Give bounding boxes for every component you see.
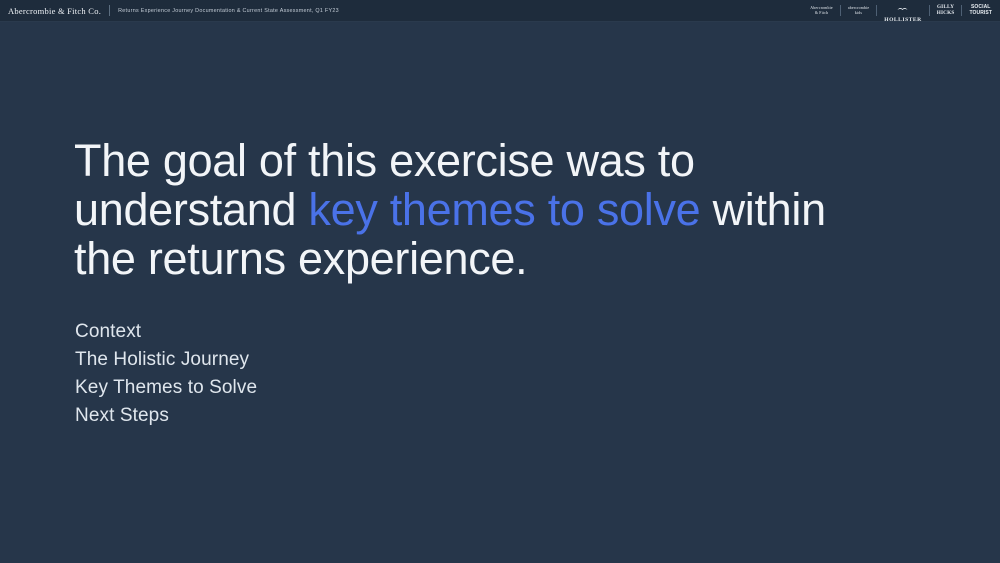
headline-accent-phrase: key themes to solve bbox=[308, 184, 700, 235]
header-divider bbox=[109, 5, 110, 16]
logo-separator bbox=[840, 5, 841, 16]
agenda-item-key-themes-to-solve[interactable]: Key Themes to Solve bbox=[75, 374, 257, 402]
agenda-list: Context The Holistic Journey Key Themes … bbox=[75, 318, 257, 430]
slide-headline: The goal of this exercise was to underst… bbox=[74, 136, 834, 283]
brand-logo-line-2: HICKS bbox=[937, 11, 955, 17]
brand-logo-gilly-hicks: GILLY HICKS bbox=[937, 5, 955, 17]
brand-logo-abercrombie-kids: abercrombie kids bbox=[848, 6, 869, 15]
brand-logo-strip: Abercrombie & Fitch abercrombie kids HOL… bbox=[810, 0, 1000, 22]
agenda-item-context[interactable]: Context bbox=[75, 318, 257, 346]
agenda-item-the-holistic-journey[interactable]: The Holistic Journey bbox=[75, 346, 257, 374]
deck-subtitle: Returns Experience Journey Documentation… bbox=[118, 8, 339, 14]
logo-separator bbox=[929, 5, 930, 16]
header-left-group: Abercrombie & Fitch Co. Returns Experien… bbox=[0, 0, 339, 22]
slide-header-bar: Abercrombie & Fitch Co. Returns Experien… bbox=[0, 0, 1000, 22]
agenda-item-next-steps[interactable]: Next Steps bbox=[75, 402, 257, 430]
brand-logo-line-2: & Fitch bbox=[815, 11, 828, 15]
logo-separator bbox=[876, 5, 877, 16]
brand-logo-line-2: kids bbox=[855, 11, 862, 15]
seagull-icon bbox=[897, 0, 908, 16]
logo-separator bbox=[961, 5, 962, 16]
brand-logo-line-2: TOURIST bbox=[969, 11, 992, 17]
brand-logo-hollister: HOLLISTER bbox=[884, 0, 921, 23]
company-wordmark: Abercrombie & Fitch Co. bbox=[8, 6, 101, 16]
brand-logo-line-2: HOLLISTER bbox=[884, 17, 921, 23]
slide-canvas: Abercrombie & Fitch Co. Returns Experien… bbox=[0, 0, 1000, 563]
brand-logo-social-tourist: SOCIAL TOURIST bbox=[969, 5, 992, 16]
brand-logo-abercrombie-fitch: Abercrombie & Fitch bbox=[810, 6, 833, 15]
